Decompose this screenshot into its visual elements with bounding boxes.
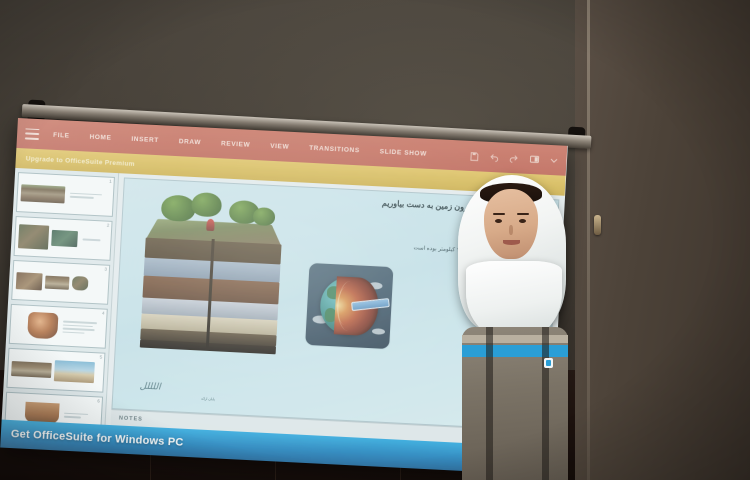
classroom-scene: FILE HOME INSERT DRAW REVIEW VIEW TRANSI… — [0, 0, 750, 480]
thumbnail-image — [45, 275, 70, 289]
menu-item-transitions[interactable]: TRANSITIONS — [309, 144, 360, 154]
tree-icon — [161, 194, 196, 222]
thumbnail-number: 4 — [102, 311, 105, 316]
menu-item-review[interactable]: REVIEW — [221, 140, 251, 148]
thumbnail-number: 1 — [109, 179, 112, 184]
redo-icon[interactable] — [509, 153, 518, 162]
shoulder-strap — [542, 327, 549, 480]
thumbnail-image — [16, 272, 43, 290]
uniform-badge — [544, 358, 553, 368]
chevron-down-icon[interactable] — [549, 155, 558, 164]
menu-item-slide-show[interactable]: SLIDE SHOW — [380, 148, 427, 157]
notes-label: NOTES — [119, 415, 143, 422]
thumbnail-number: 3 — [104, 267, 107, 272]
eye — [519, 219, 526, 223]
menu-item-insert[interactable]: INSERT — [131, 135, 159, 143]
menu-item-file[interactable]: FILE — [53, 131, 70, 139]
nose — [509, 225, 513, 235]
thumbnail-slide[interactable]: 5 — [6, 348, 105, 393]
upgrade-banner-label: Upgrade to OfficeSuite Premium — [26, 155, 135, 168]
thumbnail-image — [51, 230, 78, 247]
thumbnail-image — [27, 312, 58, 339]
uniform-stripe — [462, 345, 568, 357]
thumbnail-text-lines — [68, 192, 110, 199]
thumbnail-image — [21, 184, 66, 203]
thumbnail-image — [54, 360, 95, 383]
promo-banner-label: Get OfficeSuite for Windows PC — [11, 428, 184, 449]
thumbnail-slide[interactable]: 4 — [9, 304, 108, 349]
tree-icon — [253, 207, 276, 226]
mouth — [503, 240, 520, 245]
uniform-stripe — [462, 335, 568, 343]
thumbnail-number: 5 — [100, 354, 103, 359]
thumbnail-slide[interactable]: 1 — [16, 172, 115, 217]
annotation-caption: پایان ارائه — [201, 397, 215, 402]
handwritten-annotation: اللللل — [139, 382, 260, 406]
menu-item-draw[interactable]: DRAW — [179, 138, 202, 146]
flower-icon — [206, 219, 215, 231]
school-uniform — [462, 327, 568, 480]
thumbnail-number: 2 — [107, 223, 110, 228]
thumbnail-text-lines — [60, 320, 103, 334]
thumbnail-text-lines — [62, 412, 98, 419]
menu-item-home[interactable]: HOME — [89, 133, 111, 141]
hamburger-menu-icon[interactable] — [25, 128, 40, 140]
door-handle[interactable] — [594, 215, 601, 235]
earth-cutaway-illustration[interactable] — [304, 262, 394, 350]
thumbnail-slide[interactable]: 3 — [11, 260, 110, 305]
undo-icon[interactable] — [489, 152, 498, 161]
save-icon[interactable] — [469, 151, 478, 160]
present-icon[interactable] — [529, 154, 538, 163]
door-frame — [575, 0, 750, 480]
thumbnail-image — [18, 224, 49, 249]
menu-item-view[interactable]: VIEW — [270, 142, 289, 150]
cloud-icon — [372, 328, 385, 335]
thumbnail-text-lines — [80, 239, 107, 242]
face — [484, 189, 538, 259]
thumbnail-image — [11, 360, 52, 377]
slide-thumbnail-panel[interactable]: 1 2 3 — [2, 168, 119, 425]
eye — [495, 219, 502, 223]
thumbnail-image — [72, 276, 89, 291]
thumbnail-slide[interactable]: 2 — [14, 216, 113, 261]
soil-strata-illustration[interactable] — [138, 192, 286, 359]
thumbnail-number: 6 — [97, 398, 100, 403]
student-presenter — [440, 175, 590, 480]
shoulder-strap — [486, 327, 493, 480]
tree-icon — [191, 192, 222, 217]
toolbar-actions — [469, 141, 560, 175]
